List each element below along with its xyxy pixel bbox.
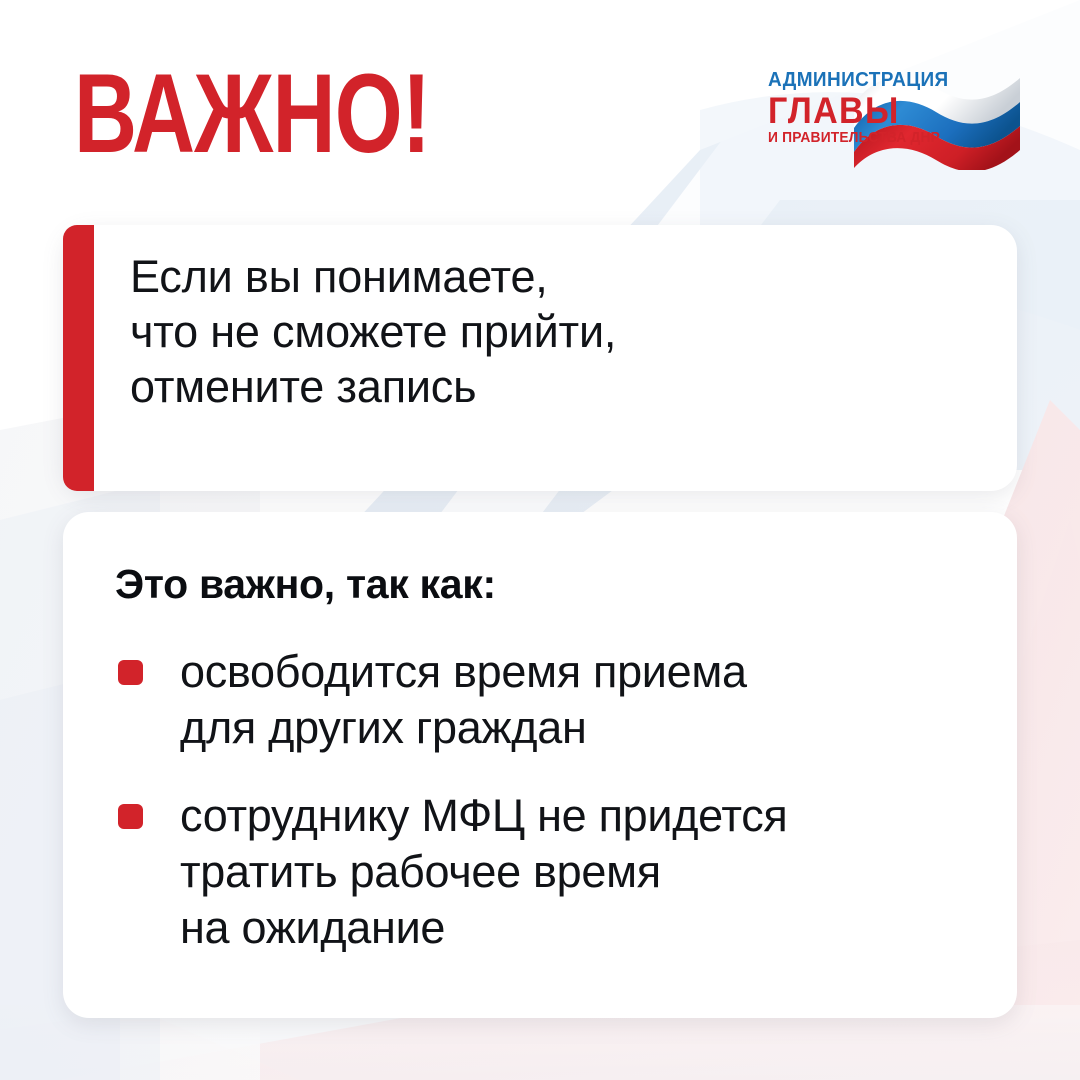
logo-line-head: ГЛАВЫ	[768, 92, 943, 129]
list-item: сотруднику МФЦ не придется тратить рабоч…	[115, 788, 985, 956]
bullet-2-line-2: тратить рабочее время	[180, 844, 985, 900]
logo-line-government: И ПРАВИТЕЛЬСТВА ДНР	[768, 130, 943, 146]
intro-line-1: Если вы понимаете,	[130, 249, 616, 304]
page-title: ВАЖНО!	[74, 58, 430, 170]
poster-canvas: ВАЖНО!	[0, 0, 1080, 1080]
intro-text: Если вы понимаете, что не сможете прийти…	[130, 249, 616, 414]
bullet-1-line-1: освободится время приема	[180, 644, 985, 700]
bullet-2-line-3: на ожидание	[180, 900, 985, 956]
list-item-text: освободится время приема для других граж…	[180, 644, 985, 756]
reasons-card: Это важно, так как: освободится время пр…	[63, 512, 1017, 1018]
organization-logo: АДМИНИСТРАЦИЯ ГЛАВЫ И ПРАВИТЕЛЬСТВА ДНР	[762, 62, 1022, 172]
logo-line-administration: АДМИНИСТРАЦИЯ	[768, 70, 949, 91]
reasons-heading: Это важно, так как:	[115, 560, 496, 608]
reasons-list: освободится время приема для других граж…	[115, 644, 985, 956]
red-square-bullet-icon	[118, 804, 143, 829]
red-square-bullet-icon	[118, 660, 143, 685]
logo-wordmark: АДМИНИСТРАЦИЯ ГЛАВЫ И ПРАВИТЕЛЬСТВА ДНР	[768, 70, 958, 146]
intro-line-2: что не сможете прийти,	[130, 304, 616, 359]
intro-card: Если вы понимаете, что не сможете прийти…	[63, 225, 1017, 491]
list-item-text: сотруднику МФЦ не придется тратить рабоч…	[180, 788, 985, 956]
list-item: освободится время приема для других граж…	[115, 644, 985, 756]
bullet-1-line-2: для других граждан	[180, 700, 985, 756]
bullet-2-line-1: сотруднику МФЦ не придется	[180, 788, 985, 844]
intro-line-3: отмените запись	[130, 359, 616, 414]
red-accent-bar	[63, 225, 94, 491]
